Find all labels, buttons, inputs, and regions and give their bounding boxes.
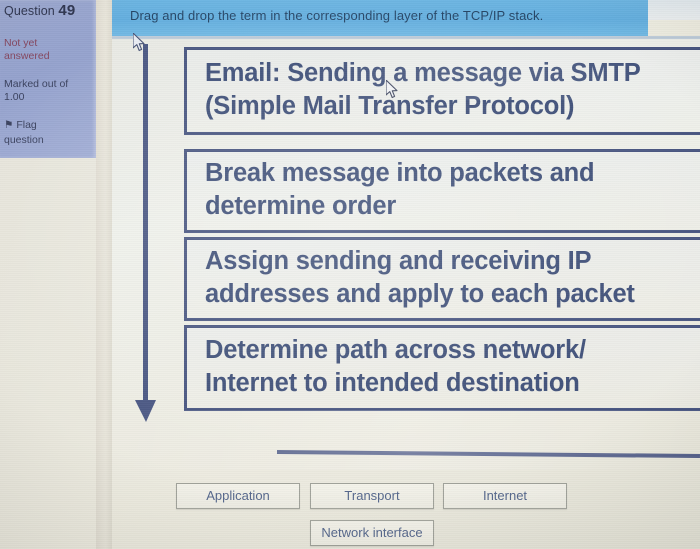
layer-3-line1: Assign sending and receiving IP <box>205 247 591 275</box>
question-number: 49 <box>58 2 75 19</box>
marked-out-of-label: Marked out of <box>4 78 68 91</box>
layer-1-line1: Email: Sending a message via SMTP <box>205 59 641 87</box>
down-arrow-icon-shaft <box>143 44 148 406</box>
answer-status-line2: answered <box>4 50 50 63</box>
layer-2-line1: Break message into packets and <box>205 159 594 187</box>
layer-2-line2: determine order <box>205 192 396 220</box>
draggable-term-application[interactable]: Application <box>176 483 300 509</box>
layer-3-text: Assign sending and receiving IP addresse… <box>205 245 700 311</box>
screenshot-root: Question 49 Not yet answered Marked out … <box>0 0 700 549</box>
question-info-panel: Question 49 Not yet answered Marked out … <box>0 0 96 158</box>
flag-question-label: Flag <box>16 119 36 131</box>
drop-target-layer-3[interactable]: Assign sending and receiving IP addresse… <box>184 237 700 321</box>
answer-status-line1: Not yet <box>4 37 37 50</box>
drop-target-layer-4[interactable]: Determine path across network/ Internet … <box>184 325 700 411</box>
layer-3-line2: addresses and apply to each packet <box>205 280 635 308</box>
drop-target-layer-1[interactable]: Email: Sending a message via SMTP (Simpl… <box>184 47 700 135</box>
flag-question-line2[interactable]: question <box>4 134 44 147</box>
instruction-band-tail <box>648 0 700 20</box>
question-title-prefix: Question <box>4 4 55 18</box>
draggable-term-network-interface[interactable]: Network interface <box>310 520 434 546</box>
flag-question-line1[interactable]: ⚑ Flag <box>4 119 37 132</box>
layer-4-line2: Internet to intended destination <box>205 369 580 397</box>
question-title: Question 49 <box>4 2 75 19</box>
layer-2-text: Break message into packets and determine… <box>205 157 700 223</box>
layer-1-text: Email: Sending a message via SMTP (Simpl… <box>205 57 700 123</box>
panel-gutter <box>96 0 112 549</box>
down-arrow-icon-head <box>135 400 156 422</box>
layer-1-line2: (Simple Mail Transfer Protocol) <box>205 92 574 120</box>
drop-target-layer-2[interactable]: Break message into packets and determine… <box>184 149 700 233</box>
draggable-term-transport[interactable]: Transport <box>310 483 434 509</box>
layer-4-text: Determine path across network/ Internet … <box>205 334 700 400</box>
instruction-text: Drag and drop the term in the correspond… <box>130 8 543 23</box>
draggable-term-internet[interactable]: Internet <box>443 483 567 509</box>
layer-4-line1: Determine path across network/ <box>205 336 586 364</box>
marked-out-of-value: 1.00 <box>4 91 24 104</box>
content-pane-top-edge <box>112 36 700 39</box>
flag-icon: ⚑ <box>4 119 13 131</box>
